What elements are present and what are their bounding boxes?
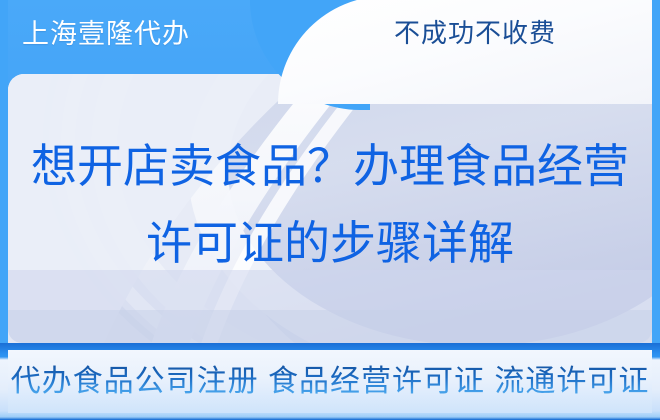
brand-name: 上海壹隆代办 (22, 17, 190, 51)
title-line-2: 许可证的步骤详解 (0, 205, 660, 282)
keyword-list: 代办食品公司注册 食品经营许可证 流通许可证 (11, 363, 650, 401)
header: 上海壹隆代办 不成功不收费 (0, 0, 660, 74)
bottom-keyword-bar: 代办食品公司注册 食品经营许可证 流通许可证 (0, 343, 660, 420)
bottom-bar-inner: 代办食品公司注册 食品经营许可证 流通许可证 (8, 350, 652, 413)
slogan-text: 不成功不收费 (330, 14, 620, 52)
page-title: 想开店卖食品？办理食品经营 许可证的步骤详解 (0, 128, 660, 282)
poster-canvas: 上海壹隆代办 不成功不收费 (0, 0, 660, 420)
title-line-1: 想开店卖食品？办理食品经营 (0, 128, 660, 205)
